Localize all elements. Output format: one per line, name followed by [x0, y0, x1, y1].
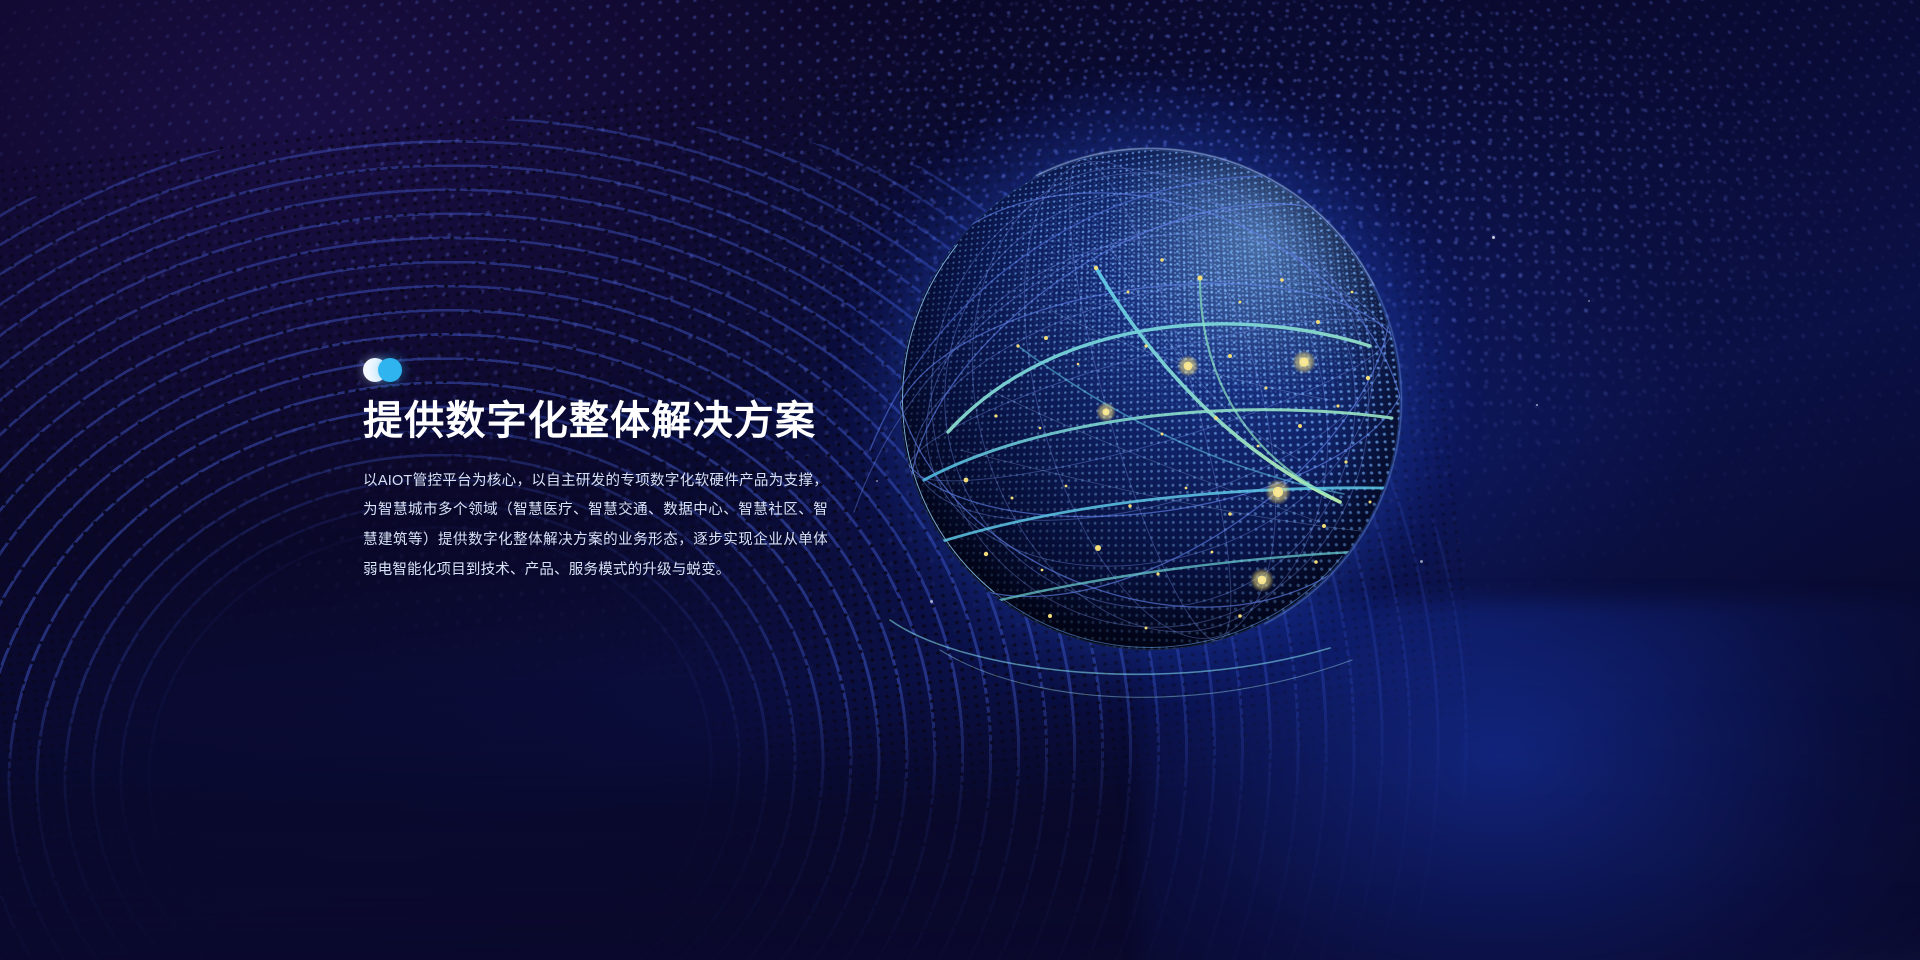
dual-circle-mark-icon — [363, 358, 415, 382]
star-particle — [1588, 300, 1590, 302]
star-particle — [876, 480, 878, 482]
star-particle — [1536, 404, 1538, 406]
star-particle — [1420, 560, 1423, 563]
circle-cyan-icon — [378, 358, 402, 382]
globe-network-overlay — [900, 150, 1400, 650]
star-particle — [1492, 236, 1495, 239]
star-particle — [930, 600, 933, 603]
hero-banner: 提供数字化整体解决方案 以AIOT管控平台为核心，以自主研发的专项数字化软硬件产… — [0, 0, 1920, 960]
hero-content: 提供数字化整体解决方案 以AIOT管控平台为核心，以自主研发的专项数字化软硬件产… — [363, 358, 833, 585]
hero-description: 以AIOT管控平台为核心，以自主研发的专项数字化软硬件产品为支撑，为智慧城市多个… — [363, 467, 828, 586]
page-title: 提供数字化整体解决方案 — [363, 399, 833, 445]
digital-earth-globe — [900, 150, 1400, 650]
